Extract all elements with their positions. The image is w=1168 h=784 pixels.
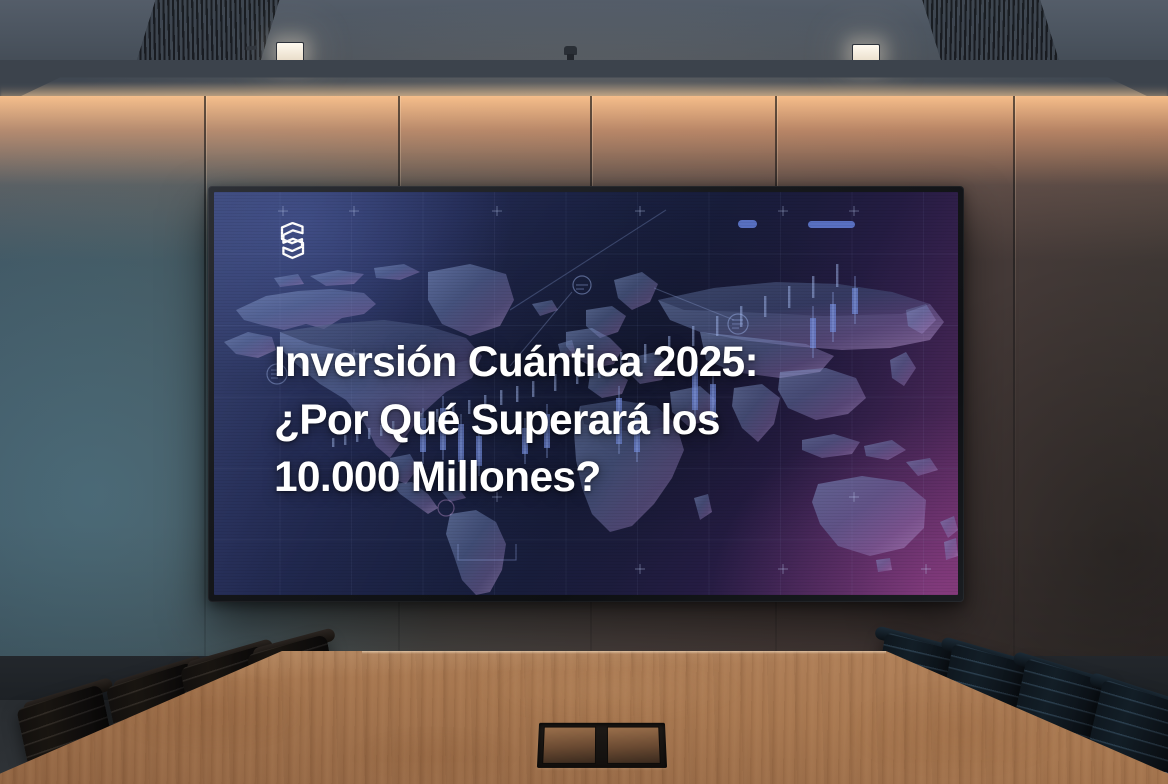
ceiling-vent-right-icon <box>917 0 1060 66</box>
table-front-edge-highlight <box>362 651 886 654</box>
legend-swatches <box>738 220 855 228</box>
trend-line <box>510 210 666 310</box>
ceiling-sensor-icon <box>564 46 577 55</box>
cable-port-flap-left[interactable] <box>542 727 596 764</box>
data-badge-marker <box>728 314 748 334</box>
wall-mounted-display[interactable]: Inversión Cuántica 2025: ¿Por Qué Supera… <box>208 186 964 602</box>
display-panel[interactable]: Inversión Cuántica 2025: ¿Por Qué Supera… <box>214 192 958 595</box>
brand-logo-icon <box>276 222 310 260</box>
data-badge-marker <box>573 276 591 294</box>
boardroom-scene: Inversión Cuántica 2025: ¿Por Qué Supera… <box>0 0 1168 784</box>
wall-panel-seam-highlight <box>206 96 207 656</box>
cable-port-flap-right[interactable] <box>607 727 661 764</box>
range-bracket <box>458 544 516 560</box>
cable-port[interactable] <box>537 723 667 768</box>
wall-panel-seam-highlight <box>1015 96 1016 656</box>
slide-title: Inversión Cuántica 2025: ¿Por Qué Supera… <box>274 334 914 507</box>
downlight-left-icon <box>276 42 304 62</box>
